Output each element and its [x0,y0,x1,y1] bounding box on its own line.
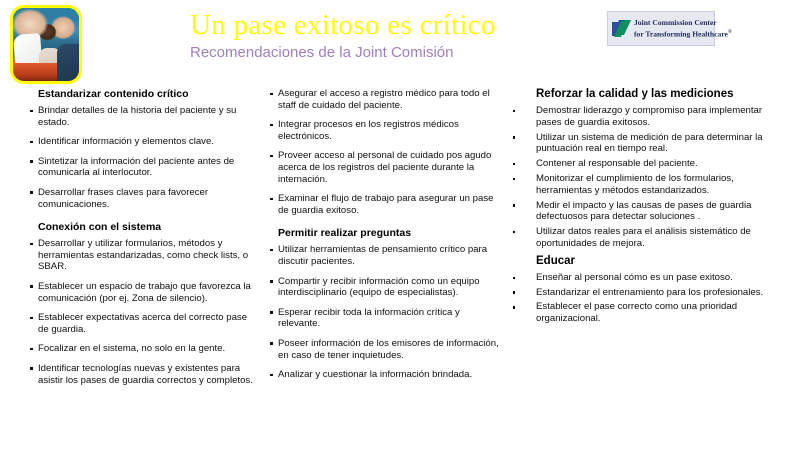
list-item: Focalizar en el sistema, no solo en la g… [28,343,256,355]
bullet-list-reforzar: Demostrar liderazgo y compromiso para im… [510,105,790,250]
section-heading-conexion: Conexión con el sistema [38,221,256,234]
page-subtitle: Recomendaciones de la Joint Comisión [190,43,590,62]
column-1: Estandarizar contenido crítico Brindar d… [28,88,256,394]
list-item: Desarrollar frases claves para favorecer… [28,187,256,210]
list-item: Asegurar el acceso a registro médico par… [268,88,500,111]
title-block: Un pase exitoso es crítico Recomendacion… [190,8,590,62]
medical-team-photo [10,5,82,84]
list-item: Poseer información de los emisores de in… [268,338,500,361]
list-item: Contener al responsable del paciente. [510,158,790,170]
column-3: Reforzar la calidad y las mediciones Dem… [510,88,790,328]
logo-chevron-icon [611,17,633,41]
column-2: Asegurar el acceso a registro médico par… [268,88,500,389]
list-item: Utilizar datos reales para el análisis s… [510,226,790,250]
logo-text-line1: Joint Commission Center [634,18,732,28]
section-heading-preguntas: Permitir realizar preguntas [278,227,500,240]
list-item: Utilizar un sistema de medición de para … [510,132,790,156]
photo-image [13,8,79,81]
list-item: Estandarizar el entrenamiento para los p… [510,287,790,299]
bullet-list-conexion: Desarrollar y utilizar formularios, méto… [28,238,256,386]
list-item: Desarrollar y utilizar formularios, méto… [28,238,256,273]
list-item: Proveer acceso al personal de cuidado po… [268,150,500,185]
list-item: Utilizar herramientas de pensamiento crí… [268,244,500,267]
joint-commission-logo: Joint Commission Center for Transforming… [607,11,715,46]
section-heading-educar: Educar [536,255,790,268]
list-item: Establecer expectativas acerca del corre… [28,312,256,335]
bullet-list-educar: Enseñar al personal cómo es un pase exit… [510,272,790,325]
page-title: Un pase exitoso es crítico [190,8,590,42]
list-item: Establecer el pase correcto como una pri… [510,301,790,325]
list-item: Brindar detalles de la historia del paci… [28,105,256,128]
list-item: Medir el impacto y las causas de pases d… [510,200,790,224]
list-item: Compartir y recibir información como un … [268,276,500,299]
list-item: Examinar el flujo de trabajo para asegur… [268,193,500,216]
list-item: Analizar y cuestionar la información bri… [268,369,500,381]
photo-desk [13,63,79,81]
list-item: Identificar información y elementos clav… [28,136,256,148]
list-item: Identificar tecnologías nuevas y existen… [28,363,256,386]
bullet-list-preguntas: Utilizar herramientas de pensamiento crí… [268,244,500,380]
list-item: Integrar procesos en los registros médic… [268,119,500,142]
list-item: Demostrar liderazgo y compromiso para im… [510,105,790,129]
slide-header: Un pase exitoso es crítico Recomendacion… [0,0,800,90]
list-item: Esperar recibir toda la información crít… [268,307,500,330]
logo-text-line2: for Transforming Healthcare® [634,28,732,39]
section-heading-estandarizar: Estandarizar contenido crítico [38,88,256,101]
logo-text: Joint Commission Center for Transforming… [634,18,732,39]
section-heading-reforzar: Reforzar la calidad y las mediciones [536,88,790,101]
list-item: Establecer un espacio de trabajo que fav… [28,281,256,304]
trademark-symbol: ® [728,30,732,35]
list-item: Sintetizar la información del paciente a… [28,156,256,179]
list-item: Enseñar al personal cómo es un pase exit… [510,272,790,284]
bullet-list-estandarizar: Brindar detalles de la historia del paci… [28,105,256,210]
bullet-list-acceso: Asegurar el acceso a registro médico par… [268,88,500,216]
list-item: Monitorizar el cumplimiento de los formu… [510,173,790,197]
stethoscope-icon [65,47,79,63]
